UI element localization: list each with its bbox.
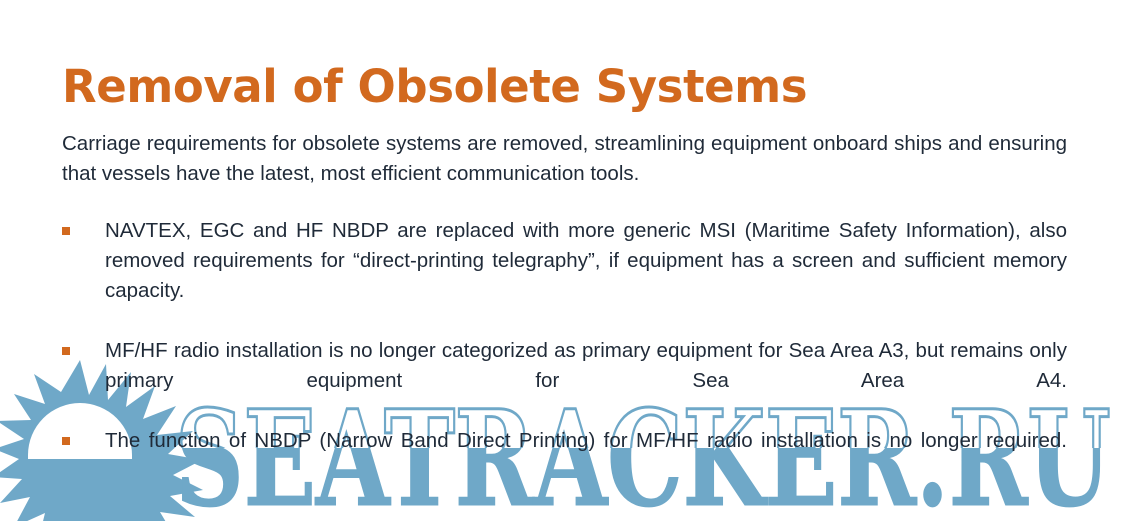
slide-content: Removal of Obsolete Systems Carriage req… [0, 0, 1126, 521]
slide-canvas: SEATRACKER.RU SEATRACKER.RU Removal of O… [0, 0, 1126, 521]
list-item: NAVTEX, EGC and HF NBDP are replaced wit… [62, 216, 1067, 336]
list-item-text: The function of NBDP (Narrow Band Direct… [105, 426, 1067, 486]
bullet-square-icon [62, 347, 70, 355]
bullet-square-icon [62, 227, 70, 235]
list-item: The function of NBDP (Narrow Band Direct… [62, 426, 1067, 486]
bullet-square-icon [62, 437, 70, 445]
intro-paragraph: Carriage requirements for obsolete syste… [62, 129, 1067, 189]
list-item-text: MF/HF radio installation is no longer ca… [105, 336, 1067, 426]
bullet-list: NAVTEX, EGC and HF NBDP are replaced wit… [62, 216, 1067, 486]
list-item-text: NAVTEX, EGC and HF NBDP are replaced wit… [105, 216, 1067, 336]
list-item: MF/HF radio installation is no longer ca… [62, 336, 1067, 426]
page-title: Removal of Obsolete Systems [62, 61, 807, 113]
